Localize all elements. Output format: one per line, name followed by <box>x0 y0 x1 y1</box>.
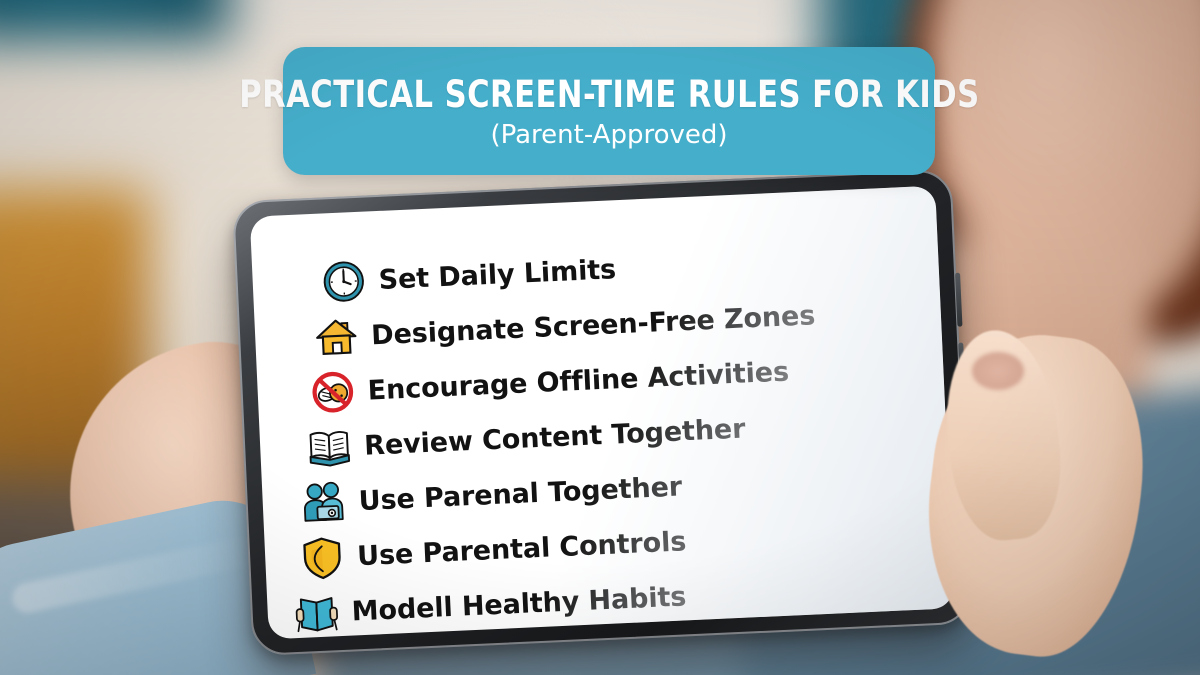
two-people-icon <box>300 479 348 527</box>
list-item-label: Designate Screen-Free Zones <box>371 300 816 351</box>
list-item-label: Modell Healthy Habits <box>351 581 687 627</box>
tablet-device[interactable]: Set Daily Limits Designate Screen-Free Z… <box>232 169 972 656</box>
open-book-icon <box>305 423 353 471</box>
rules-list: Set Daily Limits Designate Screen-Free Z… <box>304 235 829 638</box>
tablet-screen[interactable]: Set Daily Limits Designate Screen-Free Z… <box>250 186 954 640</box>
no-device-icon <box>309 368 357 416</box>
house-icon <box>312 313 360 361</box>
right-hand-thumbnail <box>972 352 1024 390</box>
page-title: Practical Screen-Time Rules for Kids <box>239 73 979 116</box>
list-item-label: Use Parental Controls <box>357 526 687 572</box>
reading-book-icon <box>293 589 341 637</box>
title-banner: Practical Screen-Time Rules for Kids (Pa… <box>283 47 935 175</box>
list-item-label: Review Content Together <box>364 413 746 461</box>
list-item-label: Set Daily Limits <box>378 254 617 296</box>
page-subtitle: (Parent-Approved) <box>490 120 727 150</box>
list-item-label: Encourage Offline Activities <box>367 356 790 406</box>
screenshot-scene: Set Daily Limits Designate Screen-Free Z… <box>0 0 1200 675</box>
list-item-label: Use Parenal Together <box>358 471 683 517</box>
clock-icon <box>320 258 368 306</box>
shield-icon <box>298 534 346 582</box>
